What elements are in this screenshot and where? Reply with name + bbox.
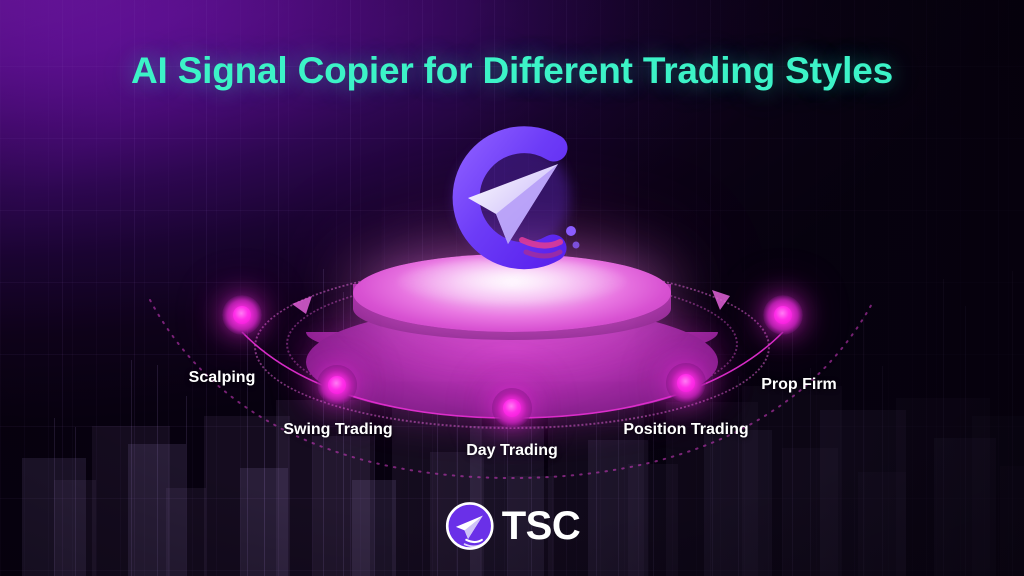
node-swing-trading[interactable] [317,365,357,405]
node-scalping[interactable] [222,295,262,335]
poster-canvas: AI Signal Copier for Different Trading S… [0,0,1024,576]
footer-brand: TSC [444,500,581,552]
tsc-paperplane-icon [444,500,496,552]
node-label-prop-firm: Prop Firm [761,376,837,394]
node-label-scalping: Scalping [189,369,256,387]
node-day-trading[interactable] [492,388,532,428]
node-label-swing-trading: Swing Trading [283,421,392,439]
node-connection-arcs [0,0,1024,576]
node-prop-firm[interactable] [763,295,803,335]
brand-name: TSC [502,506,581,546]
node-label-position-trading: Position Trading [623,421,748,439]
node-label-day-trading: Day Trading [466,442,558,460]
node-position-trading[interactable] [666,363,706,403]
